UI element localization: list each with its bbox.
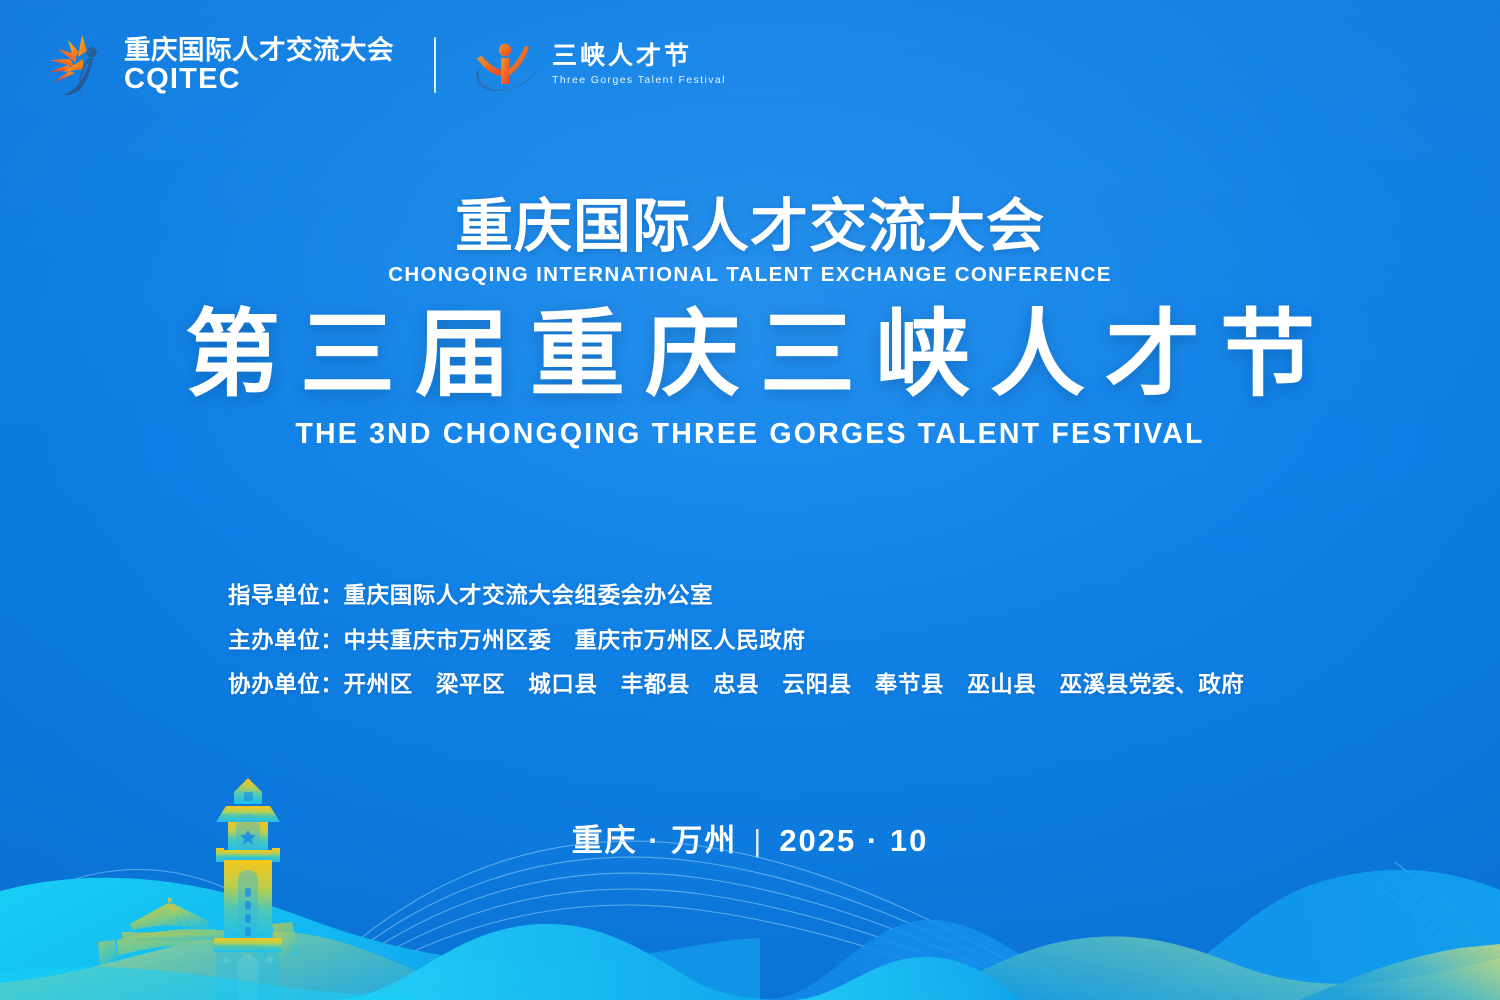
three-gorges-cn-name: 三峡人才节 xyxy=(552,43,726,71)
organizer-line-coorganizer: 协办单位：开州区 梁平区 城口县 丰都县 忠县 云阳县 奉节县 巫山县 巫溪县党… xyxy=(228,674,1244,697)
wave-cyan-left xyxy=(0,878,760,1000)
wave-cyan-mid xyxy=(330,924,790,1000)
footer-dateline: 重庆 · 万州|2025 · 10 xyxy=(0,822,1500,859)
poster-canvas: 重庆国际人才交流大会 CQITEC xyxy=(0,0,1500,1000)
three-gorges-logo-text: 三峡人才节 Three Gorges Talent Festival xyxy=(552,43,726,87)
logo-divider xyxy=(434,37,436,93)
title-group: 重庆国际人才交流大会 CHONGQING INTERNATIONAL TALEN… xyxy=(0,196,1500,450)
wave-lines-left xyxy=(0,869,388,1000)
riverside-pavilion-icon xyxy=(98,898,300,964)
three-gorges-en-name: Three Gorges Talent Festival xyxy=(552,74,726,87)
organizer-line-host: 主办单位：中共重庆市万州区委 重庆市万州区人民政府 xyxy=(228,630,1244,653)
cqitec-en-name: CQITEC xyxy=(124,65,394,95)
footer-location: 重庆 · 万州 xyxy=(572,823,738,858)
festival-title-cn: 第三届重庆三峡人才节 xyxy=(0,302,1500,408)
header-logos: 重庆国际人才交流大会 CQITEC xyxy=(38,24,726,106)
water-band-front xyxy=(0,967,470,1000)
footer-date: 2025 · 10 xyxy=(779,823,928,858)
hill-green-right xyxy=(880,936,1500,1000)
wave-cyan-small xyxy=(790,957,1020,1000)
cqitec-emblem-icon xyxy=(38,27,114,103)
hill-green-left xyxy=(0,932,560,1000)
conference-title-cn: 重庆国际人才交流大会 xyxy=(0,196,1500,259)
three-gorges-figure-icon xyxy=(468,34,542,96)
wave-lines-center xyxy=(284,841,1086,1000)
conference-title-en: CHONGQING INTERNATIONAL TALENT EXCHANGE … xyxy=(0,264,1500,287)
cqitec-logo-text: 重庆国际人才交流大会 CQITEC xyxy=(124,36,394,95)
cqitec-cn-name: 重庆国际人才交流大会 xyxy=(124,36,394,64)
wave-blue-right xyxy=(760,870,1500,1000)
wave-lines-right xyxy=(1377,862,1500,992)
organizer-line-guidance: 指导单位：重庆国际人才交流大会组委会办公室 xyxy=(228,585,1244,608)
three-gorges-logo[interactable]: 三峡人才节 Three Gorges Talent Festival xyxy=(468,34,726,96)
hill-green-tip xyxy=(1300,944,1500,1000)
cqitec-logo[interactable]: 重庆国际人才交流大会 CQITEC xyxy=(38,27,394,103)
organizer-block: 指导单位：重庆国际人才交流大会组委会办公室 主办单位：中共重庆市万州区委 重庆市… xyxy=(228,585,1244,697)
bottom-decoration xyxy=(0,770,1500,1000)
clock-tower-reflection xyxy=(216,952,280,1000)
festival-title-en: THE 3ND CHONGQING THREE GORGES TALENT FE… xyxy=(0,419,1500,450)
footer-separator: | xyxy=(753,822,763,859)
wanzhou-clock-tower-icon xyxy=(214,778,282,952)
